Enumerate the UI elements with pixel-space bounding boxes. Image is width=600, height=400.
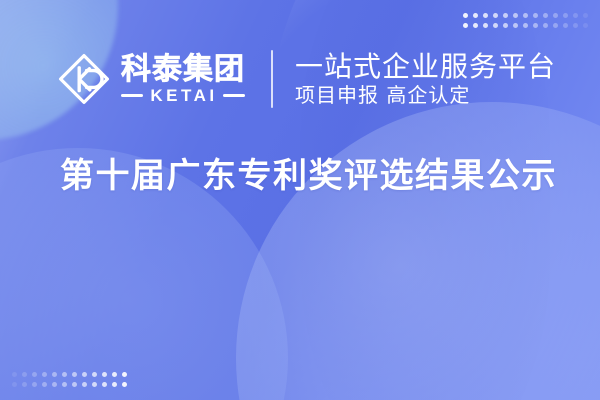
decorative-dot <box>563 23 568 28</box>
decorative-dot <box>42 382 47 387</box>
decorative-dot <box>32 382 37 387</box>
decorative-dot <box>52 372 57 377</box>
tagline-sub: 项目申报 高企认定 <box>295 85 556 105</box>
logo-rule-right <box>223 94 245 97</box>
decorative-dot <box>102 372 107 377</box>
decorative-dot <box>32 372 37 377</box>
tagline-block: 一站式企业服务平台 项目申报 高企认定 <box>295 53 556 105</box>
dot-row <box>463 13 588 18</box>
decorative-dot <box>513 23 518 28</box>
dot-grid-top-right <box>463 13 588 28</box>
decorative-dot <box>553 13 558 18</box>
decorative-dot <box>22 372 27 377</box>
decorative-dot <box>553 23 558 28</box>
decorative-dot <box>112 382 117 387</box>
decorative-dot <box>42 372 47 377</box>
decorative-dot <box>62 382 67 387</box>
decorative-dot <box>12 382 17 387</box>
decorative-dot <box>573 23 578 28</box>
logo-company-name-en: KETAI <box>148 87 217 104</box>
dot-grid-bottom-left <box>12 372 127 387</box>
decorative-dot <box>102 382 107 387</box>
decorative-dot <box>523 23 528 28</box>
decorative-dot <box>573 13 578 18</box>
decorative-dot <box>72 382 77 387</box>
decorative-dot <box>473 13 478 18</box>
banner-headline: 第十届广东专利奖评选结果公示 <box>60 156 557 197</box>
vertical-divider <box>271 50 273 108</box>
decorative-dot <box>52 382 57 387</box>
decorative-dot <box>82 382 87 387</box>
decorative-dot <box>483 23 488 28</box>
decorative-dot <box>112 372 117 377</box>
decorative-dot <box>463 13 468 18</box>
logo-company-name-cn: 科泰集团 <box>121 55 245 85</box>
decorative-dot <box>483 13 488 18</box>
decorative-dot <box>72 372 77 377</box>
decorative-dot <box>513 13 518 18</box>
decorative-dot <box>493 23 498 28</box>
background-circle-bottom-right <box>236 102 600 400</box>
decorative-dot <box>533 23 538 28</box>
decorative-dot <box>543 23 548 28</box>
decorative-dot <box>563 13 568 18</box>
decorative-dot <box>503 13 508 18</box>
decorative-dot <box>62 372 67 377</box>
tagline-main: 一站式企业服务平台 <box>295 53 556 81</box>
logo-rule-left <box>121 94 143 97</box>
decorative-dot <box>503 23 508 28</box>
decorative-dot <box>533 13 538 18</box>
decorative-dot <box>22 382 27 387</box>
decorative-dot <box>493 13 498 18</box>
decorative-dot <box>12 372 17 377</box>
decorative-dot <box>473 23 478 28</box>
logo-wordmark: 科泰集团 KETAI <box>121 55 245 104</box>
dot-row <box>12 382 127 387</box>
decorative-dot <box>92 372 97 377</box>
dot-row <box>463 23 588 28</box>
decorative-dot <box>463 23 468 28</box>
ketai-logo[interactable]: 科泰集团 KETAI <box>56 51 245 107</box>
decorative-dot <box>543 13 548 18</box>
dot-row <box>12 372 127 377</box>
decorative-dot <box>92 382 97 387</box>
decorative-dot <box>583 13 588 18</box>
decorative-dot <box>583 23 588 28</box>
logo-english-row: KETAI <box>121 87 245 104</box>
promo-banner: 科泰集团 KETAI 一站式企业服务平台 项目申报 高企认定 第十届广东专利奖评… <box>0 0 600 400</box>
decorative-dot <box>122 382 127 387</box>
banner-header: 科泰集团 KETAI 一站式企业服务平台 项目申报 高企认定 <box>56 44 556 114</box>
ketai-diamond-kp-monogram-icon <box>56 51 112 107</box>
decorative-dot <box>523 13 528 18</box>
decorative-dot <box>82 372 87 377</box>
decorative-dot <box>122 372 127 377</box>
